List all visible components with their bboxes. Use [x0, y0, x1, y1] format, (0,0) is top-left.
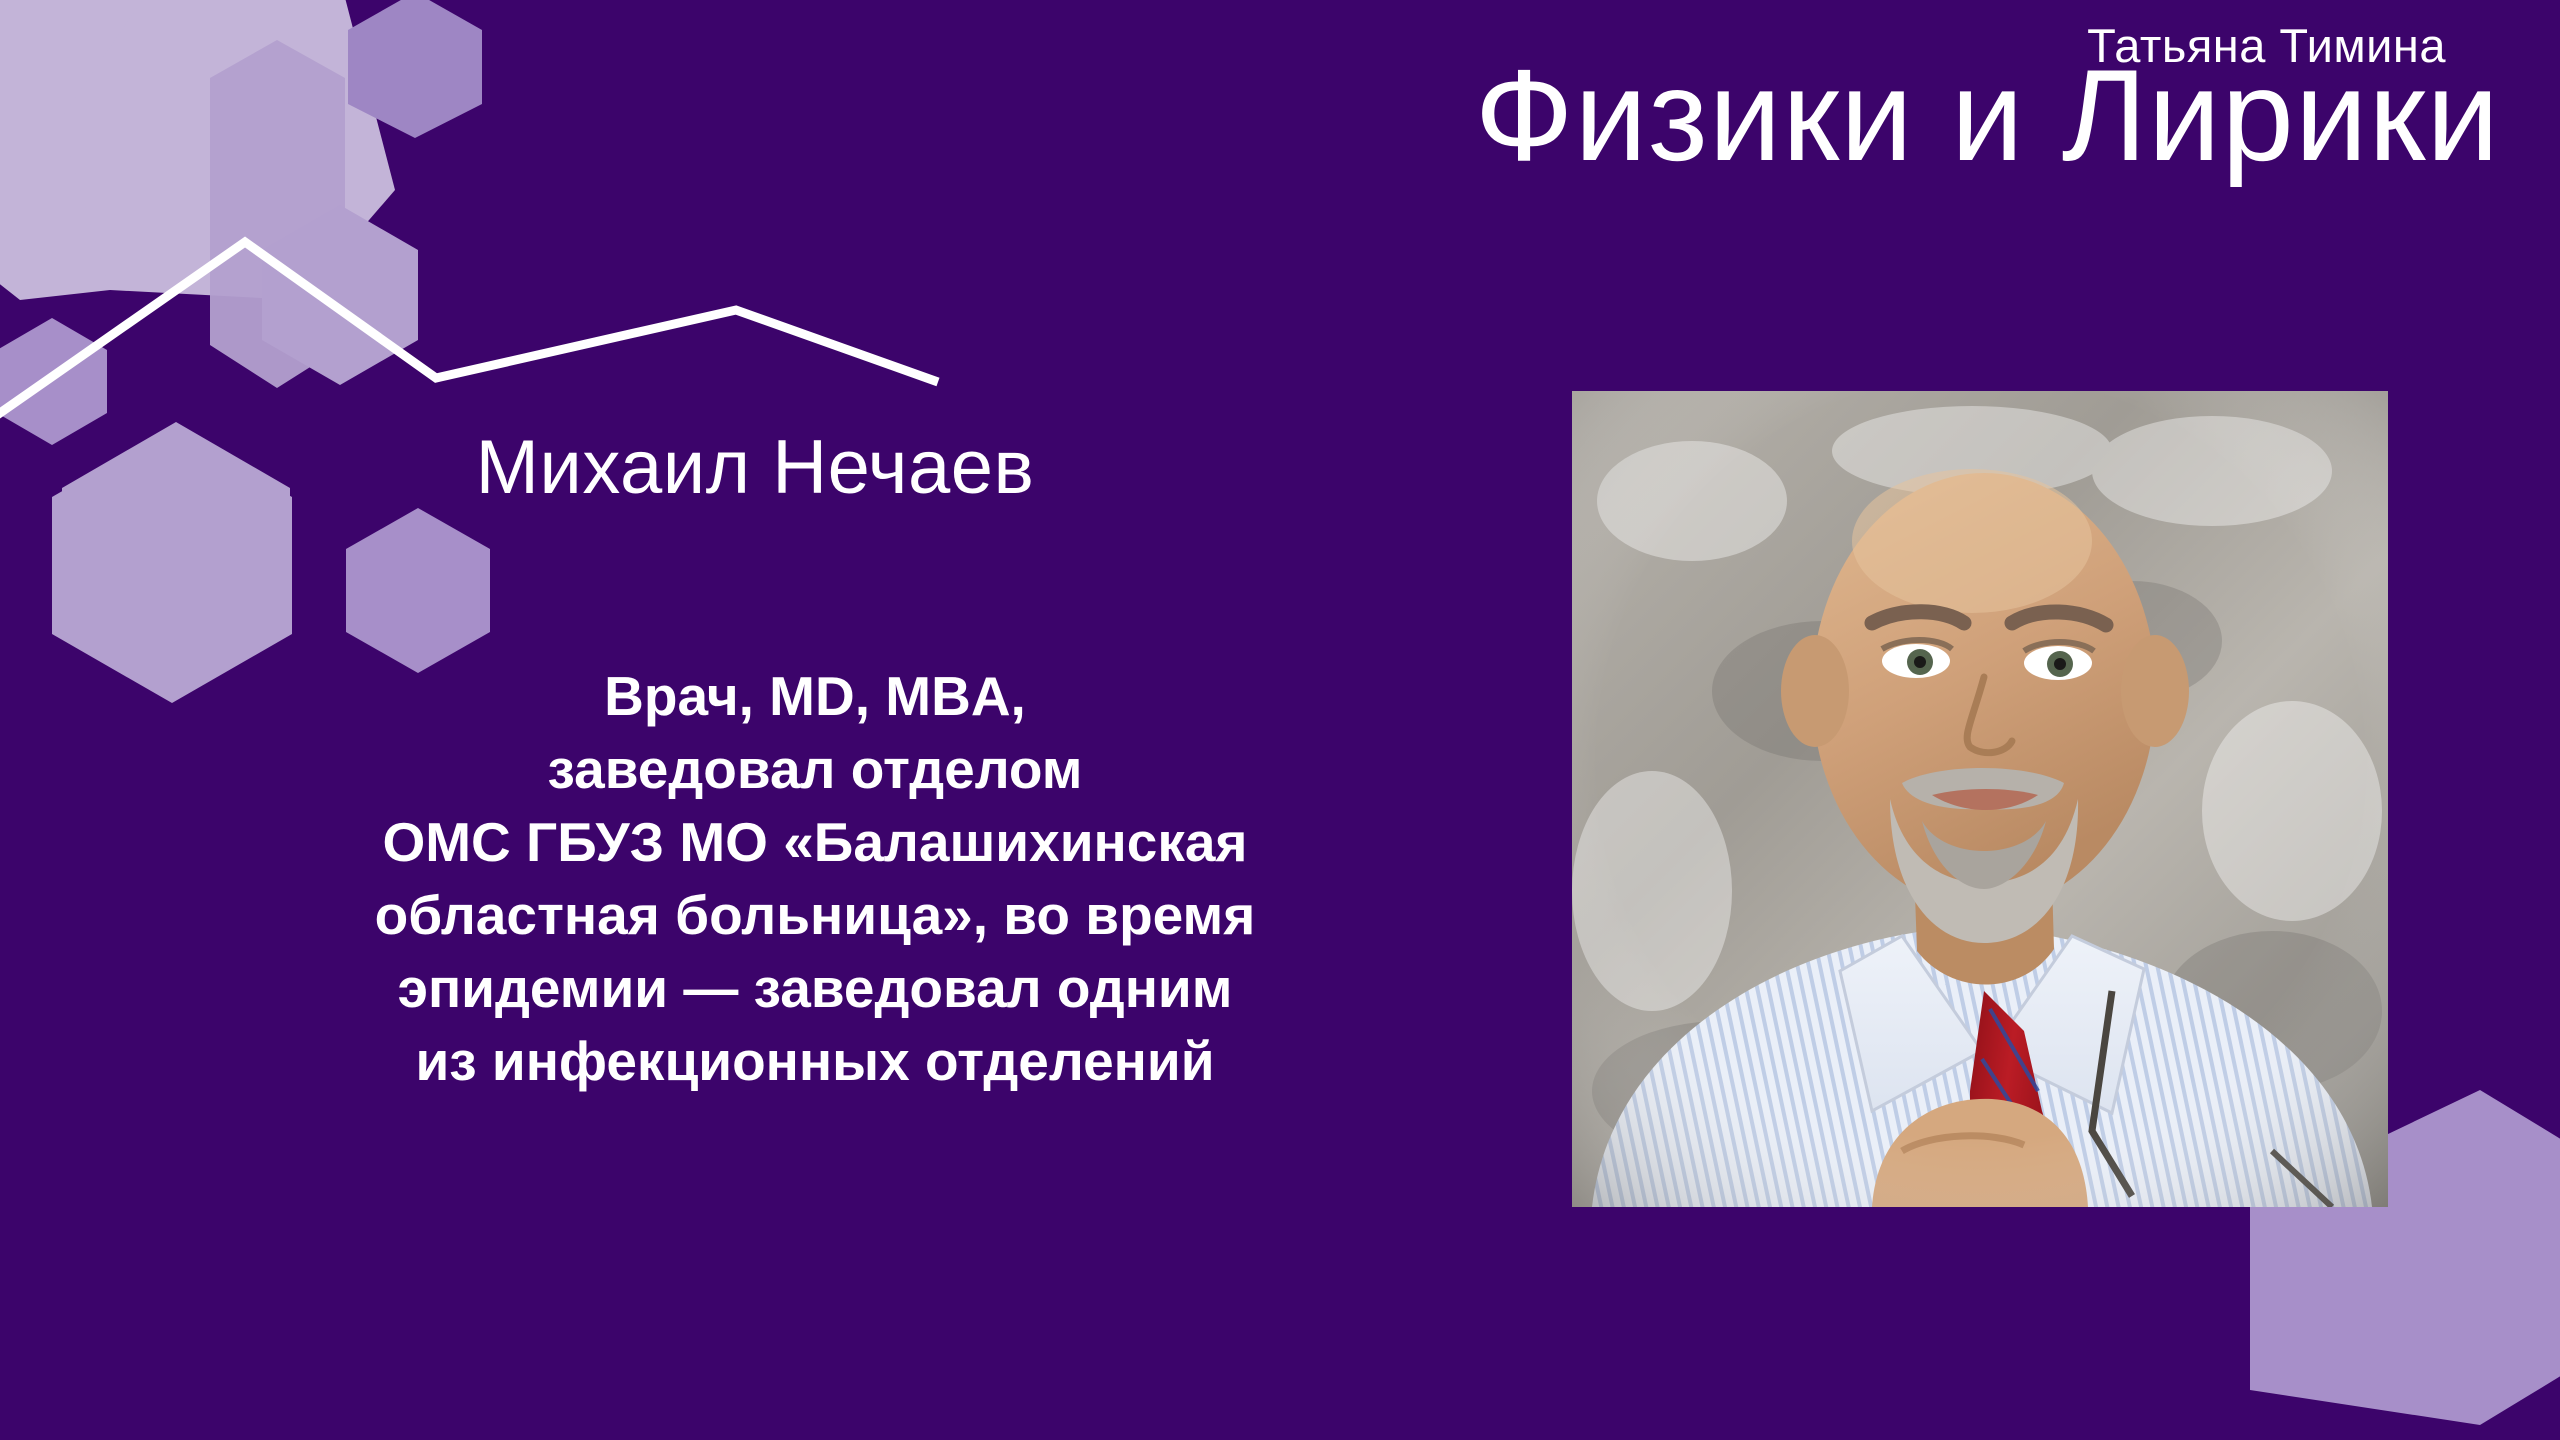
speaker-name: Михаил Нечаев — [0, 430, 1510, 506]
bio-line: заведовал отделом — [120, 733, 1510, 806]
speaker-photo — [1572, 391, 2388, 1207]
bio-line: Врач, MD, MBA, — [120, 660, 1510, 733]
bio-line: ОМС ГБУЗ МО «Балашихинская — [120, 806, 1510, 879]
bio-line: областная больница», во время — [120, 879, 1510, 952]
speaker-bio: Врач, MD, MBA, заведовал отделом ОМС ГБУ… — [120, 660, 1510, 1098]
bio-line: из инфекционных отделений — [120, 1025, 1510, 1098]
presentation-slide: Татьяна Тимина Физики и Лирики Михаил Не… — [0, 0, 2560, 1440]
bio-line: эпидемии — заведовал одним — [120, 952, 1510, 1025]
slide-title: Физики и Лирики — [1475, 50, 2500, 180]
speaker-portrait-image — [1572, 391, 2388, 1207]
